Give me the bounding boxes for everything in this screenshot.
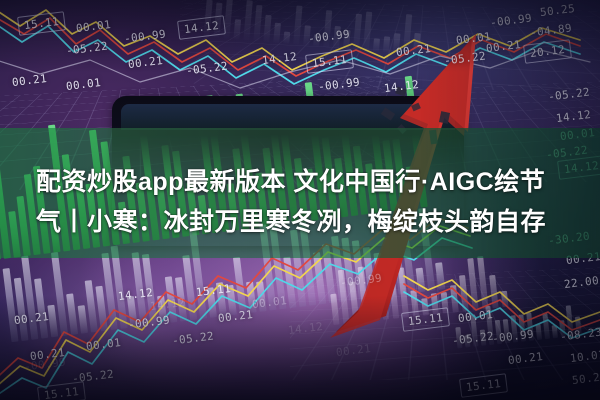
banner-image: 15.1100.01-05.22-00.9900.2114.12-05.2200…: [0, 0, 600, 400]
title-line-2: 气丨小寒：冰封万里寒冬冽，梅绽枝头韵自存: [36, 202, 566, 242]
page-title: 配资炒股app最新版本 文化中国行·AIGC绘节 气丨小寒：冰封万里寒冬冽，梅绽…: [36, 162, 566, 242]
title-line-1: 配资炒股app最新版本 文化中国行·AIGC绘节: [36, 168, 545, 196]
